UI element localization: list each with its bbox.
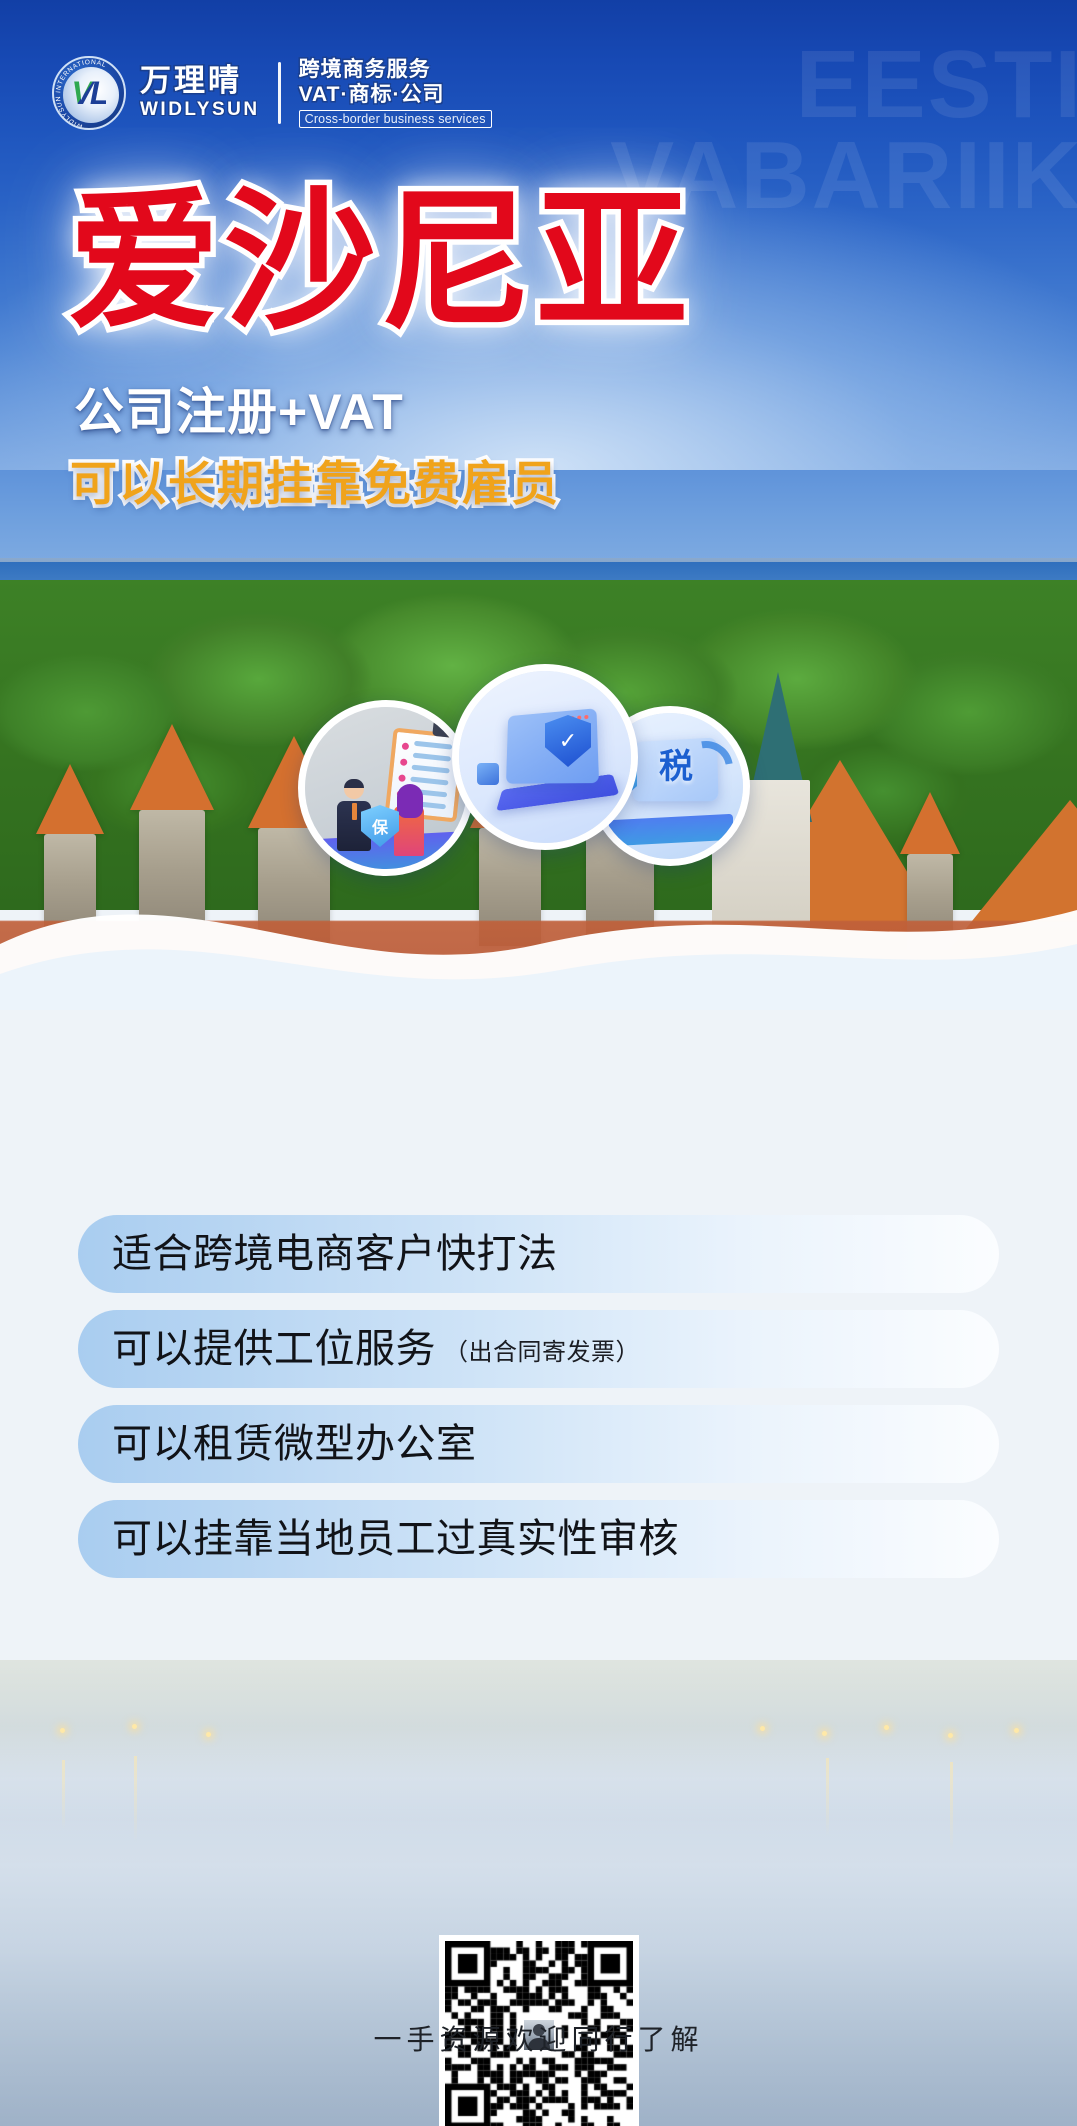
brand-name-block: 万理晴 WIDLYSUN xyxy=(140,65,260,122)
brand-name-en: WIDLYSUN xyxy=(140,99,260,121)
footer-lights xyxy=(0,1722,1077,1762)
page-title: 爱沙尼亚 xyxy=(68,185,692,340)
feature-text: 可以挂靠当地员工过真实性审核 xyxy=(112,1519,679,1559)
poster-root: EESTI VABARIIK xyxy=(0,0,1077,2126)
feature-list: 适合跨境电商客户快打法 可以提供工位服务 （出合同寄发票） 可以租赁微型办公室 … xyxy=(0,1215,1077,1595)
feature-text: 可以租赁微型办公室 xyxy=(112,1424,477,1464)
brand-header: WIDLYSUN INTERNATIONAL VL 万理晴 WIDLYSUN 跨… xyxy=(52,56,492,130)
feature-text: 适合跨境电商客户快打法 xyxy=(112,1234,558,1274)
feature-text: 可以提供工位服务 xyxy=(112,1329,436,1369)
check-glyph: ✓ xyxy=(559,730,577,752)
water-reflection xyxy=(950,1762,953,1852)
footer-shoreline xyxy=(0,1660,1077,1780)
digital-badge: ✓ xyxy=(452,664,638,850)
service-line-3: Cross-border business services xyxy=(299,110,492,128)
brand-service-block: 跨境商务服务 VAT·商标·公司 Cross-border business s… xyxy=(299,58,492,127)
logo-ring-text-icon: WIDLYSUN INTERNATIONAL xyxy=(54,58,126,130)
badge-group: 保 ✓ 税 有 xyxy=(0,660,1077,920)
consulting-badge: 保 xyxy=(298,700,474,876)
cube-icon xyxy=(477,763,499,785)
list-item[interactable]: 可以租赁微型办公室 xyxy=(78,1405,999,1483)
service-line-2: VAT·商标·公司 xyxy=(299,83,492,107)
tax-glyph: 税 xyxy=(659,739,693,788)
brand-name-cn: 万理晴 xyxy=(140,65,260,97)
brand-divider xyxy=(278,62,281,124)
footer-tagline: 一手资源欢迎同行了解 xyxy=(0,2018,1077,2058)
feature-note: （出合同寄发票） xyxy=(444,1332,640,1367)
water-reflection xyxy=(826,1758,829,1836)
water-reflection xyxy=(134,1756,137,1842)
list-item[interactable]: 可以挂靠当地员工过真实性审核 xyxy=(78,1500,999,1578)
svg-text:WIDLYSUN INTERNATIONAL: WIDLYSUN INTERNATIONAL xyxy=(55,59,107,130)
hero-subtitle: 公司注册+VAT xyxy=(74,372,404,444)
title-block: 爱沙尼亚 xyxy=(68,185,692,340)
service-line-1: 跨境商务服务 xyxy=(299,58,492,82)
list-item[interactable]: 可以提供工位服务 （出合同寄发票） xyxy=(78,1310,999,1388)
hero-highlight: 可以长期挂靠免费雇员 xyxy=(70,445,560,514)
water-reflection xyxy=(62,1760,65,1830)
logo-icon: WIDLYSUN INTERNATIONAL VL xyxy=(52,56,126,130)
list-item[interactable]: 适合跨境电商客户快打法 xyxy=(78,1215,999,1293)
